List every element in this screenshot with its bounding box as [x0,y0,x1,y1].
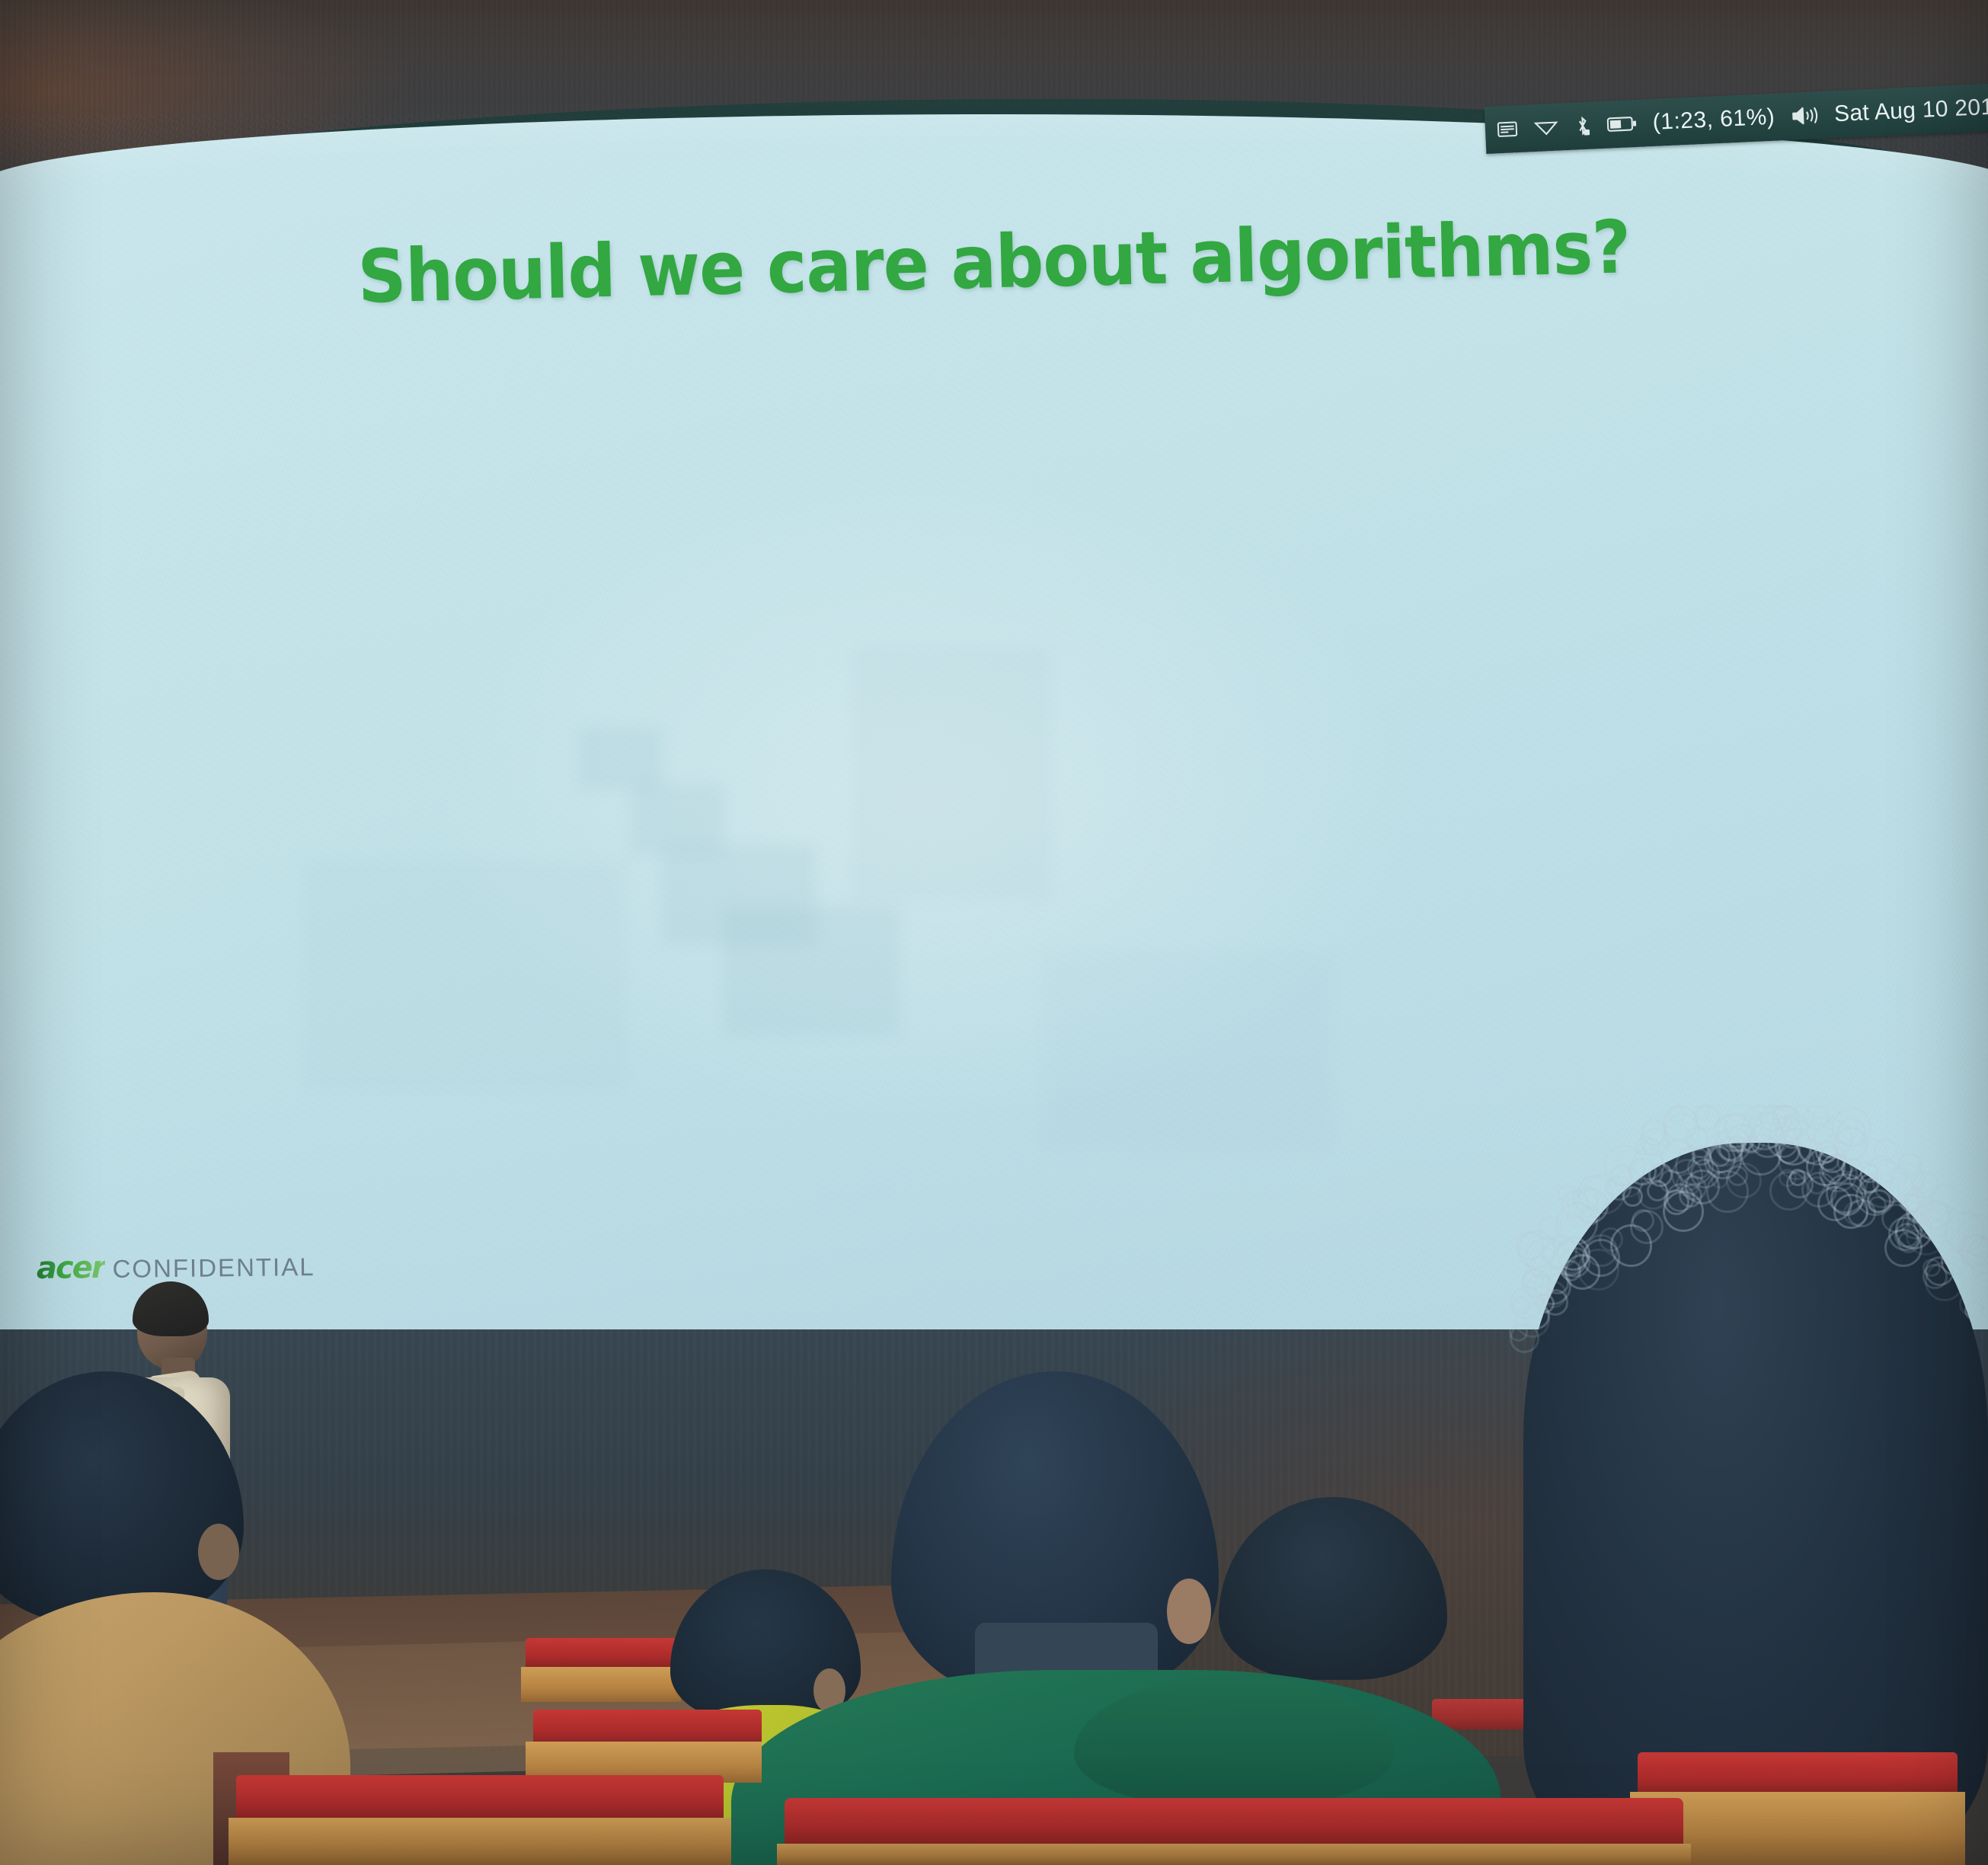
slide-footer: acer CONFIDENTIAL [37,1248,315,1286]
hair [0,1371,244,1623]
seat-frame [777,1844,1691,1865]
hair-curl [1959,1291,1984,1316]
hair-curl [1622,1186,1643,1207]
screen-artifact [305,861,625,1089]
hair-curl [1929,1218,1948,1237]
wifi-icon[interactable] [1533,117,1558,138]
acer-logo: acer [37,1250,105,1286]
hair-curl [1717,1112,1753,1148]
confidential-label: CONFIDENTIAL [112,1252,315,1284]
bluetooth-icon[interactable] [1573,114,1592,138]
screen-artifact [1044,952,1333,1150]
battery-icon[interactable] [1606,114,1638,134]
battery-status: (1:23, 61%) [1652,104,1775,136]
ear [1167,1579,1211,1644]
seat-back [526,1638,678,1668]
screen-artifact [579,728,663,789]
curly-hair-strands [1508,1105,1988,1425]
hair-curl [1648,1163,1673,1187]
hair-curl [1868,1196,1886,1214]
ear [198,1524,239,1580]
seat-back [533,1710,762,1745]
seat-back [1638,1752,1958,1795]
screen-artifact [853,648,1051,899]
hair-curl [1666,1183,1695,1212]
hair-curl [1874,1138,1897,1162]
seat-frame [521,1667,681,1702]
seat-back [785,1798,1683,1848]
seat-frame [229,1818,731,1865]
hair-curl [1913,1171,1939,1198]
hair-curl [1765,1105,1804,1144]
hair-curl [1859,1173,1879,1193]
hair-curl [1635,1136,1655,1156]
screen-artifact [632,785,724,853]
screen-artifact [724,907,899,1036]
presenter-hair [133,1281,209,1336]
audience-member-green-hoodie [823,1371,1386,1865]
system-clock[interactable]: Sat Aug 10 2019 15:19 [1833,91,1988,127]
hair-curl [1958,1234,1988,1266]
hair-curl [1663,1105,1699,1141]
audience-member-curly-hair [1493,1082,1988,1865]
hair-curl [1546,1272,1569,1295]
seat-back [236,1775,724,1821]
volume-icon[interactable] [1790,104,1820,127]
keyboard-icon[interactable] [1495,117,1519,141]
hair-curl [1616,1149,1639,1172]
photo-scene: Should we care about algorithms? acer CO… [0,0,1988,1865]
hair-curl [1728,1166,1748,1186]
hair-curl [1843,1201,1868,1226]
hair-curl [1833,1127,1867,1160]
